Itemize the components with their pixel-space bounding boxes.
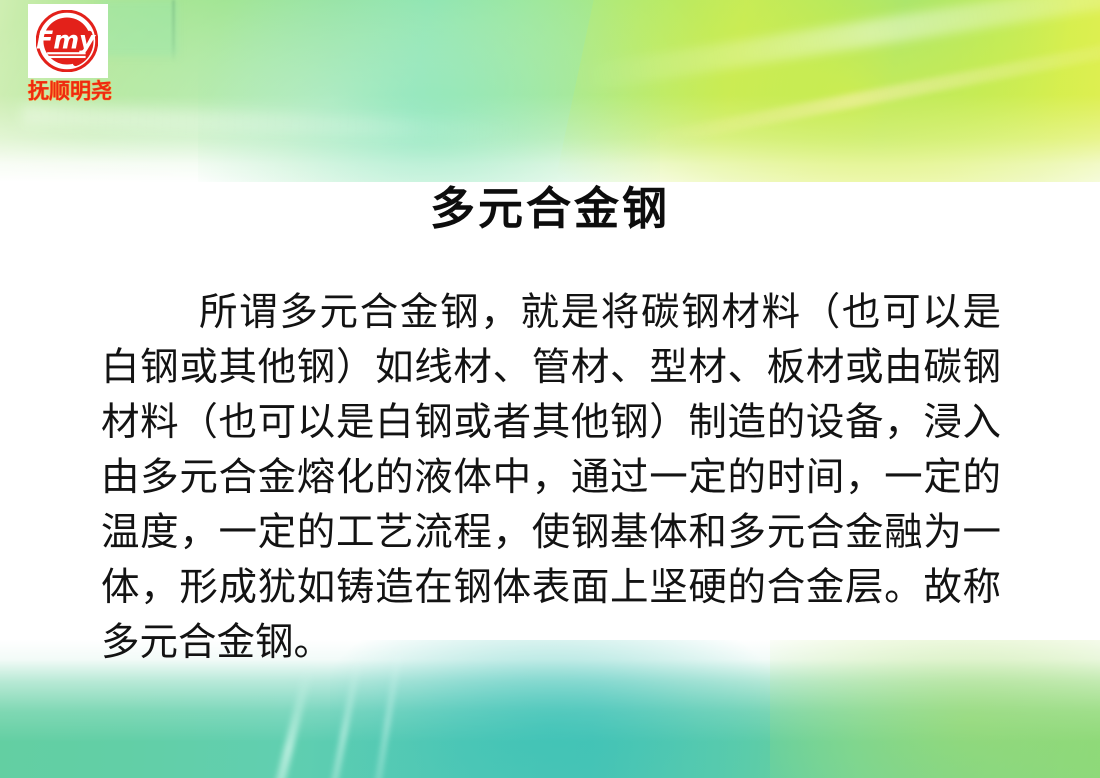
fmy-roundel-icon: Fmy xyxy=(36,10,98,72)
slide-title: 多元合金钢 xyxy=(0,172,1100,237)
top-banner-vertical-line xyxy=(172,0,175,62)
logo-mark-plate: Fmy xyxy=(28,4,108,78)
slide-body-paragraph: 所谓多元合金钢，就是将碳钢材料（也可以是白钢或其他钢）如线材、管材、型材、板材或… xyxy=(101,285,1001,670)
presentation-slide: Fmy 抚顺明尧 多元合金钢 所谓多元合金钢，就是将碳钢材料（也可以是白钢或其他… xyxy=(0,0,1100,778)
slide-content: 多元合金钢 所谓多元合金钢，就是将碳钢材料（也可以是白钢或其他钢）如线材、管材、… xyxy=(0,150,1100,670)
logo-company-name: 抚顺明尧 xyxy=(28,80,110,102)
logo-monogram-text: Fmy xyxy=(36,25,97,54)
company-logo: Fmy 抚顺明尧 xyxy=(28,4,110,102)
slide-body-block: 所谓多元合金钢，就是将碳钢材料（也可以是白钢或其他钢）如线材、管材、型材、板材或… xyxy=(99,285,1001,670)
top-banner-block-highlight xyxy=(100,0,178,56)
